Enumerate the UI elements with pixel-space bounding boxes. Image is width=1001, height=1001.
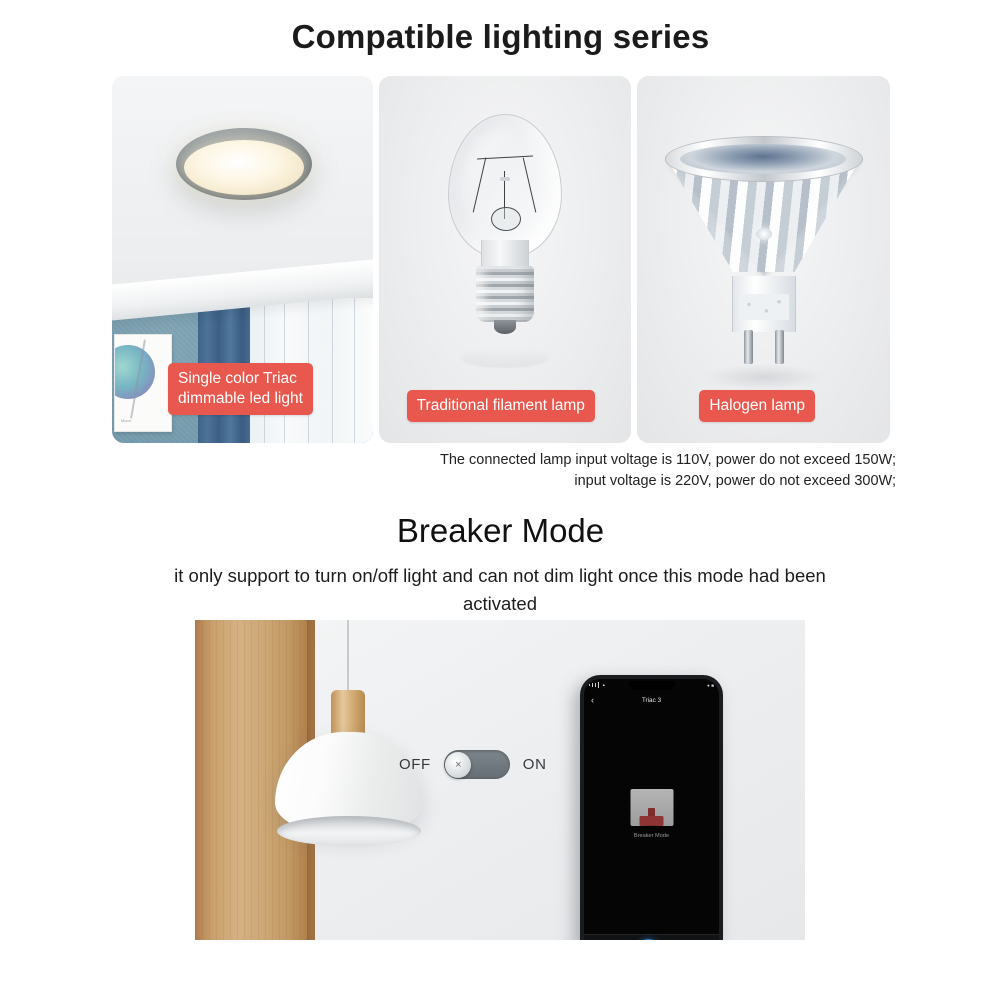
halogen-pin-right <box>775 330 784 364</box>
halogen-shadow <box>704 364 824 390</box>
wifi-icon: ▴ <box>603 682 605 688</box>
breaker-mode-title: Breaker Mode <box>0 512 1001 550</box>
breaker-mode-card-label: Breaker Mode <box>634 833 669 839</box>
toggle-off-label: OFF <box>399 756 431 773</box>
back-chevron-icon[interactable]: ‹ <box>591 696 594 705</box>
compatible-lighting-panels: Moon Single color Triac dimmable led lig… <box>112 76 890 443</box>
halogen-lamp-image <box>637 76 890 443</box>
panel-label-3: Halogen lamp <box>699 390 815 422</box>
framed-artwork: Moon <box>114 334 172 432</box>
breaker-device-thumbnail[interactable] <box>630 789 673 826</box>
status-signal-icons: ▴ <box>589 682 605 688</box>
filament-bulb-image <box>379 76 632 443</box>
halogen-inner-reflector <box>680 144 846 174</box>
spec-note-line-1: The connected lamp input voltage is 110V… <box>380 450 896 471</box>
spec-note: The connected lamp input voltage is 110V… <box>380 450 896 492</box>
phone-app-title: Triac 3 <box>584 697 719 704</box>
phone-app-header: ‹ Triac 3 <box>584 692 719 709</box>
phone-screen: ▴ ● ■ ‹ Triac 3 Brea <box>584 679 719 940</box>
mr16-halogen-lamp <box>665 136 863 182</box>
battery-icon: ■ <box>711 683 714 688</box>
panel-halogen-lamp: Halogen lamp <box>637 76 890 443</box>
phone-notch <box>629 681 675 690</box>
halogen-capsule <box>756 228 772 240</box>
panel-traditional-filament-lamp: Traditional filament lamp <box>379 76 632 443</box>
lamp-diffuser <box>184 140 304 195</box>
breaker-mode-scene: OFF × ON ▴ ● ■ ‹ <box>195 620 805 940</box>
spec-note-line-2: input voltage is 220V, power do not exce… <box>380 471 896 492</box>
bulb-contact-tip <box>494 320 516 334</box>
panel-label-1: Single color Triac dimmable led light <box>168 363 313 415</box>
breaker-toggle-row: OFF × ON <box>399 750 547 779</box>
bulb-screw-base <box>476 266 534 322</box>
bulb-reflection <box>461 348 549 368</box>
phone-tab-bar: Timer Settings <box>584 934 719 940</box>
toggle-knob[interactable]: × <box>445 752 471 778</box>
filament-wire <box>473 158 487 213</box>
halogen-rim <box>665 136 863 182</box>
page-title: Compatible lighting series <box>0 18 1001 56</box>
filament-coil <box>491 207 521 231</box>
bulb-neck <box>481 240 529 268</box>
smartphone-mockup: ▴ ● ■ ‹ Triac 3 Brea <box>580 675 723 940</box>
breaker-mode-subtitle: it only support to turn on/off light and… <box>150 562 850 618</box>
pendant-cord <box>347 620 349 692</box>
halogen-pin-left <box>744 330 753 364</box>
halogen-ceramic <box>739 294 789 320</box>
panel-label-2: Traditional filament lamp <box>407 390 595 422</box>
onoff-toggle-switch[interactable]: × <box>444 750 510 779</box>
halogen-base-body <box>732 276 796 332</box>
power-button[interactable] <box>638 939 659 940</box>
filament-wire <box>523 158 537 213</box>
breaker-mode-card[interactable]: Breaker Mode <box>630 789 673 839</box>
bulb-glass <box>448 114 562 258</box>
ceiling-led-lamp <box>176 128 312 200</box>
status-battery-icons: ● ■ <box>707 683 714 688</box>
tab-power[interactable] <box>638 939 659 940</box>
artwork-caption: Moon <box>121 418 131 423</box>
toggle-on-label: ON <box>523 756 547 773</box>
panel-single-color-triac-led: Moon Single color Triac dimmable led lig… <box>112 76 373 443</box>
filament-support <box>500 177 510 181</box>
incandescent-bulb <box>448 114 562 258</box>
pendant-wood-neck <box>331 690 365 738</box>
pendant-lamp-opening <box>277 816 421 846</box>
bluetooth-icon: ● <box>707 683 710 688</box>
